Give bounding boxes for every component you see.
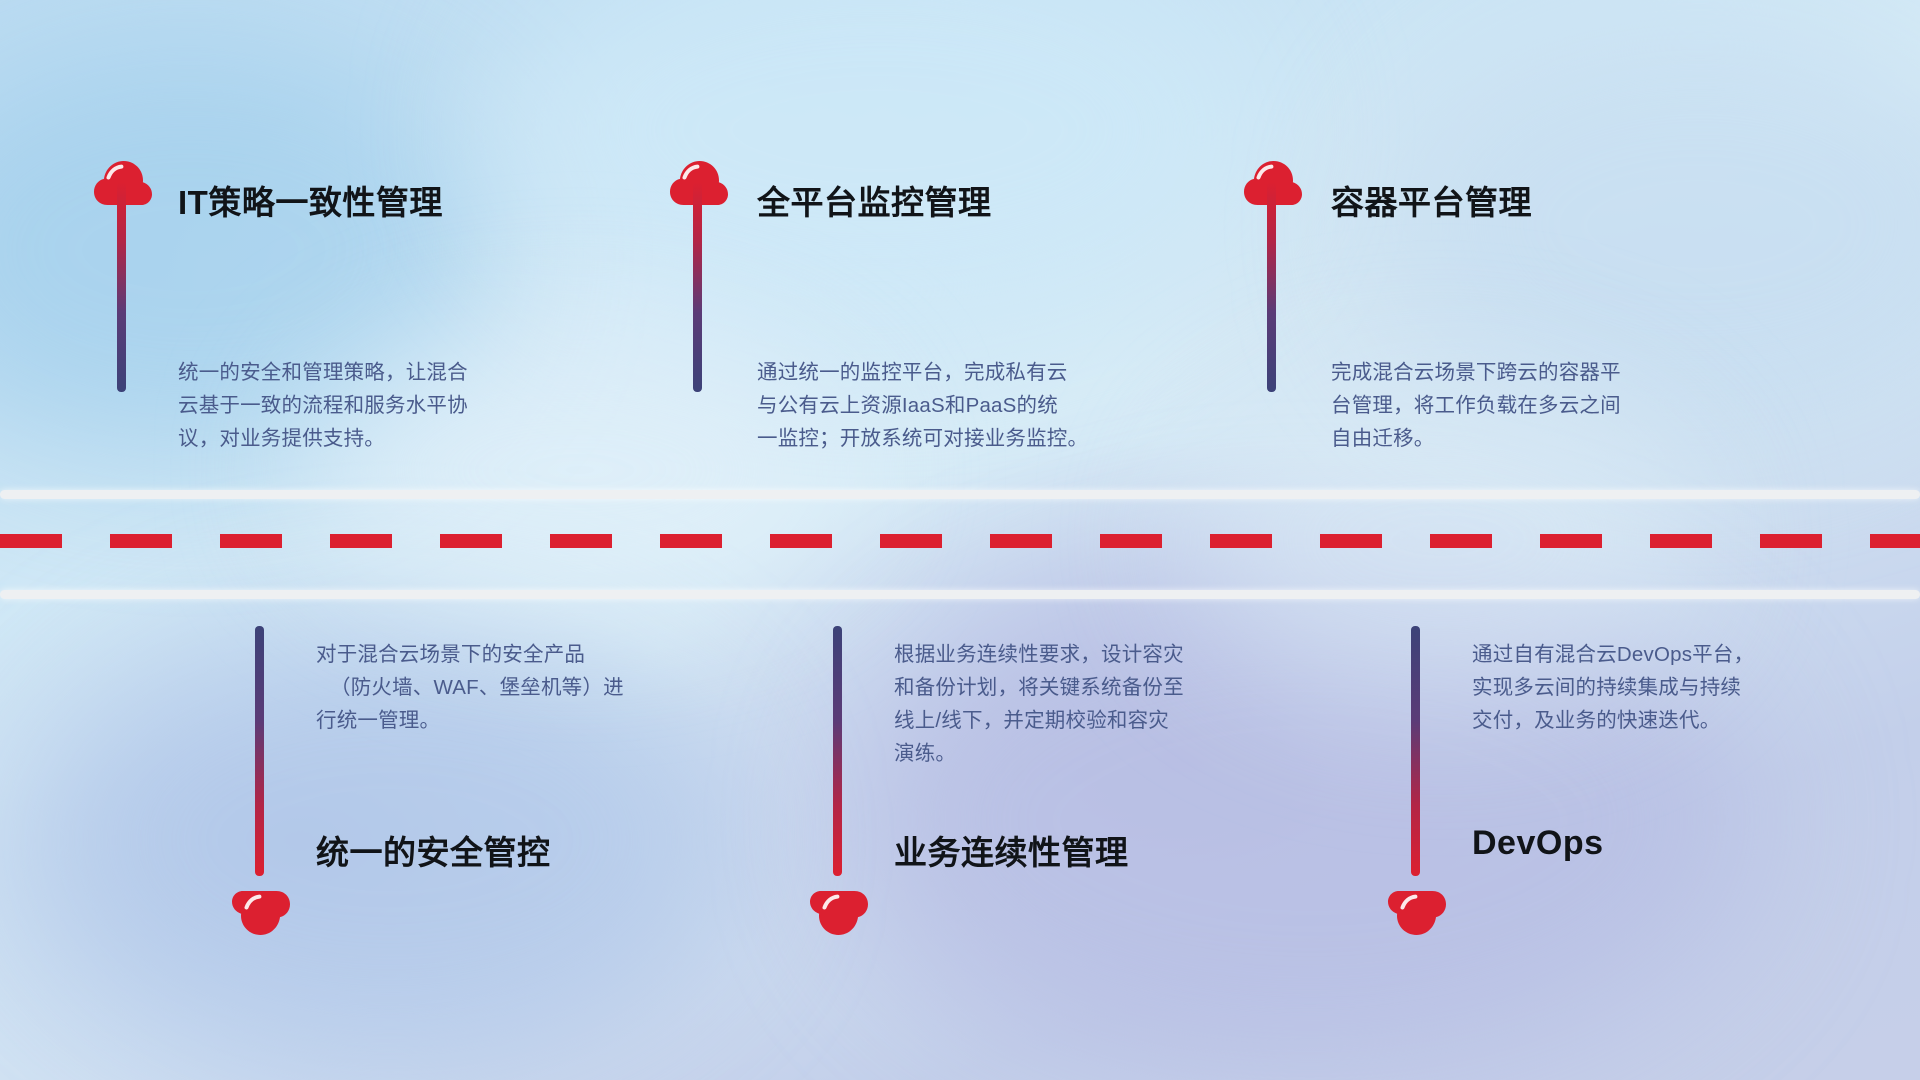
road-edge-bottom <box>0 590 1920 599</box>
body-line: 行统一管理。 <box>316 704 624 737</box>
connector-stem <box>1267 182 1276 392</box>
connector-stem <box>693 182 702 392</box>
connector-stem <box>1411 626 1420 876</box>
body-line: 台管理，将工作负载在多云之间 <box>1331 389 1621 422</box>
body-line: 通过统一的监控平台，完成私有云 <box>757 356 1088 389</box>
card-heading: 容器平台管理 <box>1331 176 1532 224</box>
card-body: 统一的安全和管理策略，让混合 云基于一致的流程和服务水平协 议，对业务提供支持。 <box>178 356 468 455</box>
body-line: 自由迁移。 <box>1331 422 1621 455</box>
body-line: 和备份计划，将关键系统备份至 <box>894 671 1184 704</box>
road-divider <box>0 490 1920 600</box>
connector-stem <box>117 182 126 392</box>
card-heading: 全平台监控管理 <box>757 176 992 224</box>
cloud-icon <box>1387 890 1447 936</box>
card-body: 完成混合云场景下跨云的容器平 台管理，将工作负载在多云之间 自由迁移。 <box>1331 356 1621 455</box>
background-blob <box>500 0 1260 340</box>
connector-stem <box>255 626 264 876</box>
body-line: 完成混合云场景下跨云的容器平 <box>1331 356 1621 389</box>
infographic-canvas: IT策略一致性管理 统一的安全和管理策略，让混合 云基于一致的流程和服务水平协 … <box>0 0 1920 1080</box>
body-line: 议，对业务提供支持。 <box>178 422 468 455</box>
body-line: 对于混合云场景下的安全产品 <box>316 638 624 671</box>
body-line: 统一的安全和管理策略，让混合 <box>178 356 468 389</box>
body-line: 云基于一致的流程和服务水平协 <box>178 389 468 422</box>
card-body: 对于混合云场景下的安全产品 （防火墙、WAF、堡垒机等）进 行统一管理。 <box>316 638 624 737</box>
body-line: 一监控；开放系统可对接业务监控。 <box>757 422 1088 455</box>
cloud-icon <box>809 890 869 936</box>
card-heading: IT策略一致性管理 <box>178 176 443 224</box>
card-heading: 统一的安全管控 <box>316 826 551 874</box>
body-line: 线上/线下，并定期校验和容灾 <box>894 704 1184 737</box>
road-dashed-line <box>0 534 1920 548</box>
body-line: 与公有云上资源IaaS和PaaS的统 <box>757 389 1088 422</box>
body-line: 交付，及业务的快速迭代。 <box>1472 704 1754 737</box>
road-edge-top <box>0 490 1920 499</box>
body-line: 通过自有混合云DevOps平台， <box>1472 638 1754 671</box>
card-heading: 业务连续性管理 <box>894 826 1129 874</box>
body-line: 实现多云间的持续集成与持续 <box>1472 671 1754 704</box>
card-body: 通过统一的监控平台，完成私有云 与公有云上资源IaaS和PaaS的统 一监控；开… <box>757 356 1088 455</box>
card-body: 根据业务连续性要求，设计容灾 和备份计划，将关键系统备份至 线上/线下，并定期校… <box>894 638 1184 770</box>
card-body: 通过自有混合云DevOps平台， 实现多云间的持续集成与持续 交付，及业务的快速… <box>1472 638 1754 737</box>
body-line: （防火墙、WAF、堡垒机等）进 <box>316 671 624 704</box>
card-heading: DevOps <box>1472 824 1604 863</box>
connector-stem <box>833 626 842 876</box>
cloud-icon <box>231 890 291 936</box>
body-line: 演练。 <box>894 737 1184 770</box>
body-line: 根据业务连续性要求，设计容灾 <box>894 638 1184 671</box>
